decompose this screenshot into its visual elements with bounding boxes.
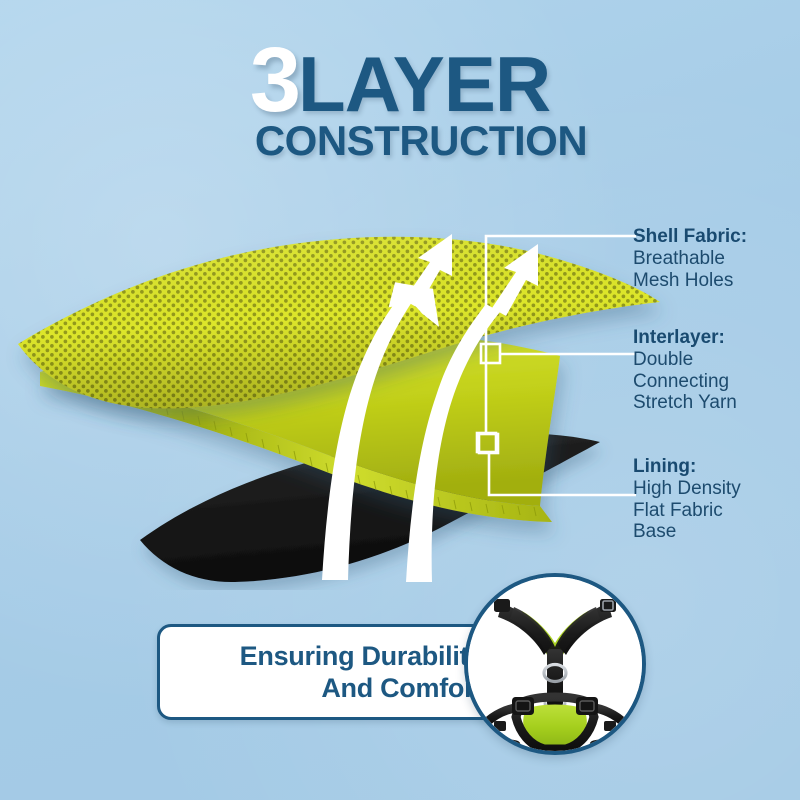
harness-left-buckle: [512, 697, 534, 715]
tagline-text: Ensuring Durability And Comfort: [240, 640, 483, 705]
callout-lining-line1: High Density: [633, 478, 800, 499]
infographic-page: 3 LAYER CONSTRUCTION: [0, 0, 800, 800]
title-main-row: 3 LAYER: [0, 38, 800, 123]
callout-lining-heading: Lining:: [633, 456, 800, 477]
callout-shell-heading: Shell Fabric:: [633, 226, 800, 247]
layer-stack-illustration: [0, 150, 680, 590]
harness-left-keeper: [494, 721, 506, 731]
title-word: LAYER: [298, 49, 550, 121]
harness-right-keeper: [604, 721, 616, 731]
tagline-line2: And Comfort: [240, 672, 483, 704]
callout-shell-line1: Breathable: [633, 248, 800, 269]
product-image-circle: [464, 573, 646, 755]
dog-harness-image: [468, 577, 642, 751]
callout-interlayer-line1: Double: [633, 349, 800, 370]
callout-shell-fabric: Shell Fabric: Breathable Mesh Holes: [633, 226, 800, 291]
harness-left-adjuster: [494, 599, 510, 612]
callout-shell-line2: Mesh Holes: [633, 270, 800, 291]
harness-right-buckle: [576, 697, 598, 715]
callout-lining-line2: Flat Fabric: [633, 500, 800, 521]
title-number: 3: [250, 38, 298, 123]
callout-lining-line3: Base: [633, 521, 800, 542]
callout-interlayer-heading: Interlayer:: [633, 327, 800, 348]
callout-interlayer-line2: Connecting: [633, 371, 800, 392]
callout-lining: Lining: High Density Flat Fabric Base: [633, 456, 800, 542]
tagline-banner: Ensuring Durability And Comfort: [157, 624, 502, 720]
tagline-line1: Ensuring Durability: [240, 640, 483, 672]
callout-interlayer: Interlayer: Double Connecting Stretch Ya…: [633, 327, 800, 413]
callout-interlayer-line3: Stretch Yarn: [633, 392, 800, 413]
page-title: 3 LAYER CONSTRUCTION: [0, 38, 800, 165]
